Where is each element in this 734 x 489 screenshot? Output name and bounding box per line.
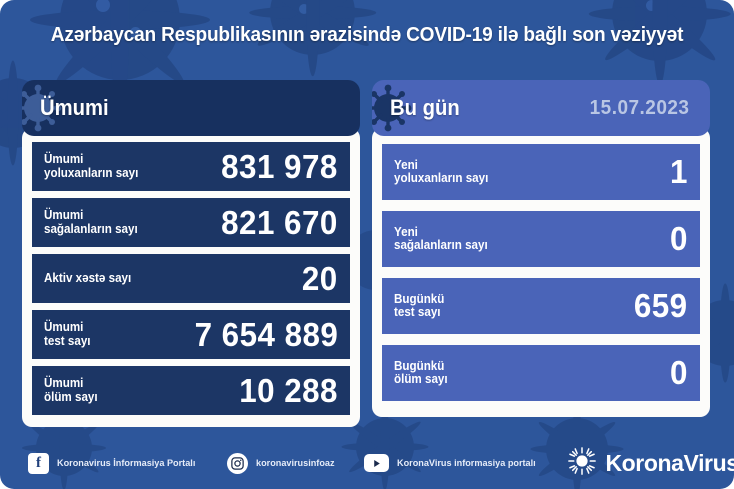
stat-row: Ümumi sağalanların sayı 821 670 <box>32 198 350 247</box>
stat-value: 1 <box>670 155 688 189</box>
stat-row: Ümumi ölüm sayı 10 288 <box>32 366 350 415</box>
stat-row: Bugünkü ölüm sayı 0 <box>382 345 700 401</box>
panel-total: Ümumi Ümumi yoluxanların sayı 831 978 Üm… <box>22 80 360 427</box>
stat-value: 659 <box>634 289 688 323</box>
stat-value: 0 <box>670 222 688 256</box>
brand-name: KoronaVirus <box>605 450 734 477</box>
panel-today-header: Bu gün 15.07.2023 <box>372 80 710 136</box>
social-label-youtube: KoronaVirus informasiya portalı <box>397 458 536 469</box>
stat-row: Aktiv xəstə sayı 20 <box>32 254 350 303</box>
report-date: 15.07.2023 <box>590 97 690 120</box>
brand-logo[interactable]: KoronaVirus info <box>567 446 734 481</box>
panel-today-body: Yeni yoluxanların sayı 1 Yeni sağalanlar… <box>372 128 710 417</box>
stat-label: Aktiv xəstə sayı <box>44 272 131 286</box>
footer: f Koronavirus İnformasiya Portalı korona… <box>0 437 734 489</box>
stat-value: 20 <box>302 262 338 296</box>
stat-label: Ümumi sağalanların sayı <box>44 209 138 236</box>
stat-value: 0 <box>670 356 688 390</box>
stat-label: Bugünkü ölüm sayı <box>394 360 448 387</box>
social-link-facebook[interactable]: f Koronavirus İnformasiya Portalı <box>28 453 201 474</box>
stat-value: 10 288 <box>239 374 338 408</box>
facebook-icon[interactable]: f <box>28 453 49 474</box>
stat-value: 831 978 <box>221 150 338 184</box>
panel-today: Bu gün 15.07.2023 Yeni yoluxanların sayı… <box>372 80 710 417</box>
virus-sunburst-icon <box>567 446 597 481</box>
instagram-icon[interactable] <box>227 453 248 474</box>
stat-label: Ümumi ölüm sayı <box>44 377 98 404</box>
page-title: Azərbaycan Respublikasının ərazisində CO… <box>51 23 683 47</box>
panel-total-header: Ümumi <box>22 80 360 136</box>
stat-row: Yeni yoluxanların sayı 1 <box>382 144 700 200</box>
stat-label: Ümumi test sayı <box>44 321 91 348</box>
stat-row: Bugünkü test sayı 659 <box>382 278 700 334</box>
stat-value: 7 654 889 <box>194 318 338 352</box>
social-label-facebook: Koronavirus İnformasiya Portalı <box>57 458 195 469</box>
stat-row: Ümumi yoluxanların sayı 831 978 <box>32 142 350 191</box>
youtube-icon[interactable] <box>364 454 389 472</box>
stat-row: Ümumi test sayı 7 654 889 <box>32 310 350 359</box>
poster-title-bar: Azərbaycan Respublikasının ərazisində CO… <box>0 0 734 70</box>
stat-label: Yeni sağalanların sayı <box>394 226 488 253</box>
stat-label: Bugünkü test sayı <box>394 293 444 320</box>
covid-status-poster: Azərbaycan Respublikasının ərazisində CO… <box>0 0 734 489</box>
stat-label: Yeni yoluxanların sayı <box>394 159 488 186</box>
stat-value: 821 670 <box>221 206 338 240</box>
panel-today-heading: Bu gün <box>390 95 460 121</box>
panel-total-heading: Ümumi <box>40 95 109 121</box>
stat-label: Ümumi yoluxanların sayı <box>44 153 138 180</box>
social-label-instagram: koronavirusinfoaz <box>256 458 335 469</box>
stat-row: Yeni sağalanların sayı 0 <box>382 211 700 267</box>
panel-total-body: Ümumi yoluxanların sayı 831 978 Ümumi sa… <box>22 128 360 427</box>
social-link-instagram[interactable]: koronavirusinfoaz <box>227 453 338 474</box>
social-link-youtube[interactable]: KoronaVirus informasiya portalı <box>364 454 541 472</box>
